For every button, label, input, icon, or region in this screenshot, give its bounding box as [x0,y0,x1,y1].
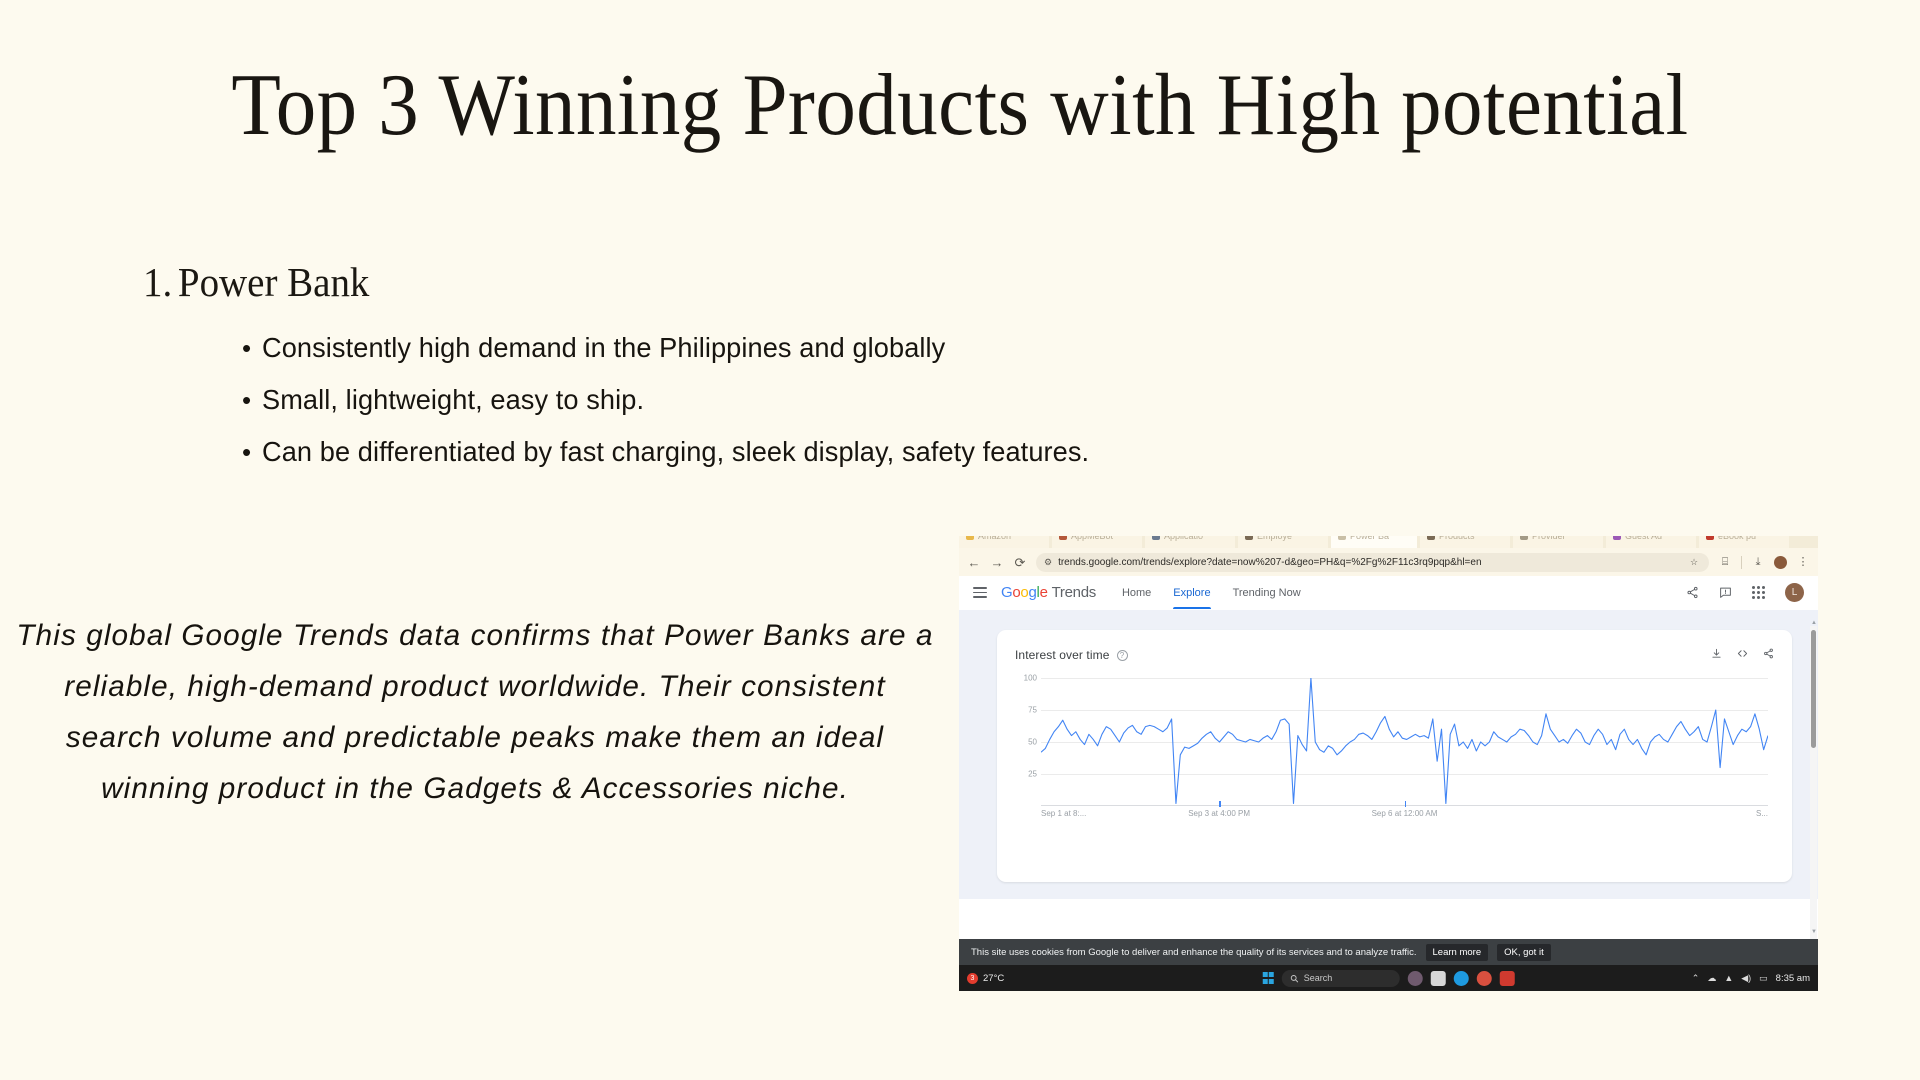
browser-tab-title: Applicatio [1164,536,1203,541]
browser-tab-strip: AmazonAppMeBotApplicatioEmployePower BaP… [959,536,1818,548]
browser-tab-title: Provider [1532,536,1566,541]
puzzle-icon[interactable]: ⌸ [1718,557,1732,568]
weather-temperature: 27°C [983,973,1004,984]
browser-toolbar: ← → ⟳ ⚙ trends.google.com/trends/explore… [959,548,1818,576]
taskbar-clock: 8:35 am [1776,973,1810,984]
tab-favicon-icon [1706,536,1714,540]
browser-tab-title: Power Ba [1350,536,1389,541]
tab-favicon-icon [1427,536,1435,540]
list-item-label: Power Bank [178,259,369,305]
help-circle-icon[interactable]: ? [1117,650,1128,661]
browser-tab[interactable]: eBook pu [1699,536,1789,548]
bullet-dot-icon: • [236,430,262,474]
office-app-icon[interactable] [1500,971,1515,986]
chart-y-tick-label: 25 [1028,770,1037,779]
windows-taskbar: 3 27°C Search ⌃ ☁ ▲ ◀) ▭ 8:35 am [959,965,1818,991]
kebab-menu-icon[interactable]: ⋮ [1796,557,1810,568]
bullet-list: • Consistently high demand in the Philip… [236,326,1276,482]
windows-logo-icon[interactable] [1262,972,1274,984]
browser-tab[interactable]: Employe [1238,536,1328,548]
learn-more-button[interactable]: Learn more [1426,944,1489,961]
list-item: • Small, lightweight, easy to ship. [236,378,1276,422]
download-icon[interactable] [1711,646,1722,664]
bullet-dot-icon: • [236,326,262,370]
edge-app-icon[interactable] [1454,971,1469,986]
tab-favicon-icon [1152,536,1160,540]
tab-favicon-icon [1520,536,1528,540]
chart-y-tick-label: 75 [1028,706,1037,715]
bullet-text: Consistently high demand in the Philippi… [262,326,1246,370]
avatar[interactable]: L [1785,583,1804,602]
chart-x-tick-label: Sep 3 at 4:00 PM [1188,809,1250,818]
page-scrollbar[interactable] [1810,626,1817,966]
feedback-icon[interactable] [1719,586,1732,599]
logo-suffix: Trends [1052,584,1096,601]
browser-tab[interactable]: Guest Ad [1606,536,1696,548]
browser-tab-title: eBook pu [1718,536,1756,541]
chart-y-tick-label: 100 [1024,674,1037,683]
google-trends-logo: GoogleTrends [1001,584,1096,601]
scrollbar-thumb[interactable] [1811,630,1816,748]
list-item: • Consistently high demand in the Philip… [236,326,1276,370]
hamburger-menu-icon[interactable] [973,587,987,598]
chart-x-axis: Sep 1 at 8:...Sep 3 at 4:00 PMSep 6 at 1… [1041,806,1768,822]
browser-tab-title: Employe [1257,536,1292,541]
tab-favicon-icon [1245,536,1253,540]
share-icon[interactable] [1686,586,1699,599]
star-icon[interactable]: ☆ [1687,558,1701,567]
browser-tab[interactable]: Amazon [959,536,1049,548]
browser-tab-title: AppMeBot [1071,536,1113,541]
caption-text: This global Google Trends data confirms … [15,610,936,814]
chart-y-axis: 255075100 [1015,678,1041,806]
address-bar-url: trends.google.com/trends/explore?date=no… [1058,557,1481,568]
notification-badge: 3 [967,973,978,984]
list-item: • Can be differentiated by fast charging… [236,430,1276,474]
list-item-number: 1. [143,259,172,305]
list-item: 1.Power Bank [143,258,1188,306]
browser-tab[interactable]: Power Ba [1331,536,1417,548]
page-title: Top 3 Winning Products with High potenti… [77,62,1843,150]
toolbar-divider [1741,556,1742,569]
weather-widget[interactable]: 3 27°C [967,973,1004,984]
arrow-left-icon[interactable]: ← [967,556,981,569]
tune-icon[interactable]: ⚙ [1044,557,1052,568]
download-icon[interactable]: ⤓ [1751,557,1765,568]
card-title: Interest over time [1015,648,1110,662]
profile-avatar[interactable] [1774,556,1787,569]
embed-code-icon[interactable] [1737,646,1748,664]
arrow-right-icon[interactable]: → [990,556,1004,569]
reload-icon[interactable]: ⟳ [1013,556,1027,569]
browser-tab-title: Amazon [978,536,1011,541]
scroll-up-arrow-icon[interactable]: ▲ [1811,620,1817,626]
trends-header: GoogleTrends Home Explore Trending Now L [959,576,1818,610]
taskbar-search-placeholder: Search [1304,973,1333,983]
file-explorer-app-icon[interactable] [1431,971,1446,986]
wifi-icon[interactable]: ▲ [1724,973,1733,983]
battery-icon[interactable]: ▭ [1759,973,1768,984]
taskview-app-icon[interactable] [1408,971,1423,986]
bullet-dot-icon: • [236,378,262,422]
chart-y-tick-label: 50 [1028,738,1037,747]
apps-grid-icon[interactable] [1752,586,1765,599]
bullet-text: Small, lightweight, easy to ship. [262,378,1246,422]
interest-over-time-chart: 255075100 [1015,678,1774,806]
browser-screenshot: AmazonAppMeBotApplicatioEmployePower BaP… [959,536,1818,991]
share-icon[interactable] [1763,646,1774,664]
browser-tab-title: Guest Ad [1625,536,1662,541]
trends-nav: Home Explore Trending Now [1122,576,1301,609]
chart-line-series [1041,678,1768,806]
accept-cookies-button[interactable]: OK, got it [1497,944,1551,961]
tab-favicon-icon [1338,536,1346,540]
interest-over-time-card: Interest over time ? 255075100 [997,630,1792,882]
chart-x-tick-label: Sep 1 at 8:... [1041,809,1086,818]
tab-favicon-icon [1059,536,1067,540]
numbered-list: 1.Power Bank [143,258,1243,306]
scroll-down-arrow-icon[interactable]: ▼ [1811,929,1817,935]
browser-tab[interactable]: AppMeBot [1052,536,1142,548]
volume-icon[interactable]: ◀) [1741,973,1751,984]
taskbar-search-input[interactable]: Search [1282,970,1400,987]
trends-page-body: Interest over time ? 255075100 [959,610,1818,899]
chart-x-tick-label: S... [1756,809,1768,818]
browser-tab[interactable]: Provider [1513,536,1603,548]
cookie-banner: This site uses cookies from Google to de… [959,939,1818,965]
browser-tab[interactable]: Products [1420,536,1510,548]
chevron-up-icon[interactable]: ⌃ [1692,973,1700,984]
nav-item-trending-now[interactable]: Trending Now [1233,576,1301,609]
tab-favicon-icon [966,536,974,540]
chrome-app-icon[interactable] [1477,971,1492,986]
tab-favicon-icon [1613,536,1621,540]
chart-x-tick-label: Sep 6 at 12:00 AM [1372,809,1438,818]
nav-item-explore[interactable]: Explore [1173,576,1210,609]
browser-tab-title: Products [1439,536,1475,541]
chart-plot-area [1041,678,1768,806]
nav-item-home[interactable]: Home [1122,576,1151,609]
cookie-banner-text: This site uses cookies from Google to de… [971,947,1417,958]
address-bar[interactable]: ⚙ trends.google.com/trends/explore?date=… [1036,553,1709,572]
browser-tab[interactable]: Applicatio [1145,536,1235,548]
onedrive-icon[interactable]: ☁ [1707,973,1716,984]
bullet-text: Can be differentiated by fast charging, … [262,430,1246,474]
